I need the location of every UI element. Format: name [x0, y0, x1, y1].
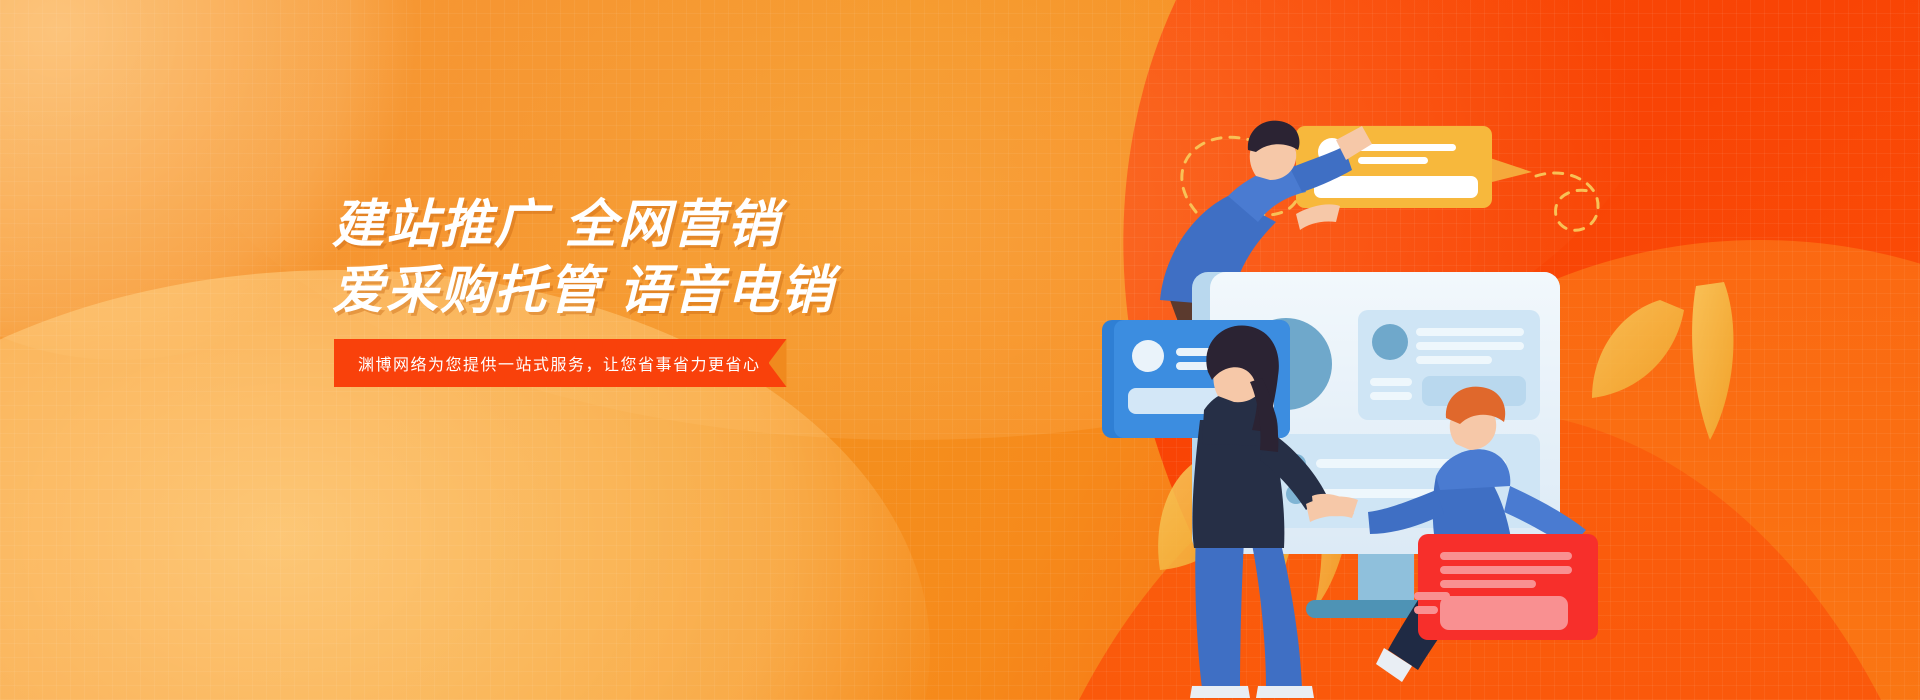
- tagline-text: 渊博网络为您提供一站式服务，让您省事省力更省心: [358, 351, 761, 375]
- promo-banner: 建站推广 全网营销 爱采购托管 语音电销 渊博网络为您提供一站式服务，让您省事省…: [0, 0, 1920, 700]
- red-card: [1414, 534, 1598, 640]
- ribbon-notch-icon: [769, 339, 787, 387]
- tagline-ribbon: 渊博网络为您提供一站式服务，让您省事省力更省心: [334, 339, 787, 387]
- headline-line-2: 爱采购托管 语音电销: [332, 262, 1112, 320]
- hero-illustration: [1100, 0, 1920, 700]
- headline-block: 建站推广 全网营销 爱采购托管 语音电销: [332, 196, 1112, 320]
- headline-line-1: 建站推广 全网营销: [332, 196, 1112, 254]
